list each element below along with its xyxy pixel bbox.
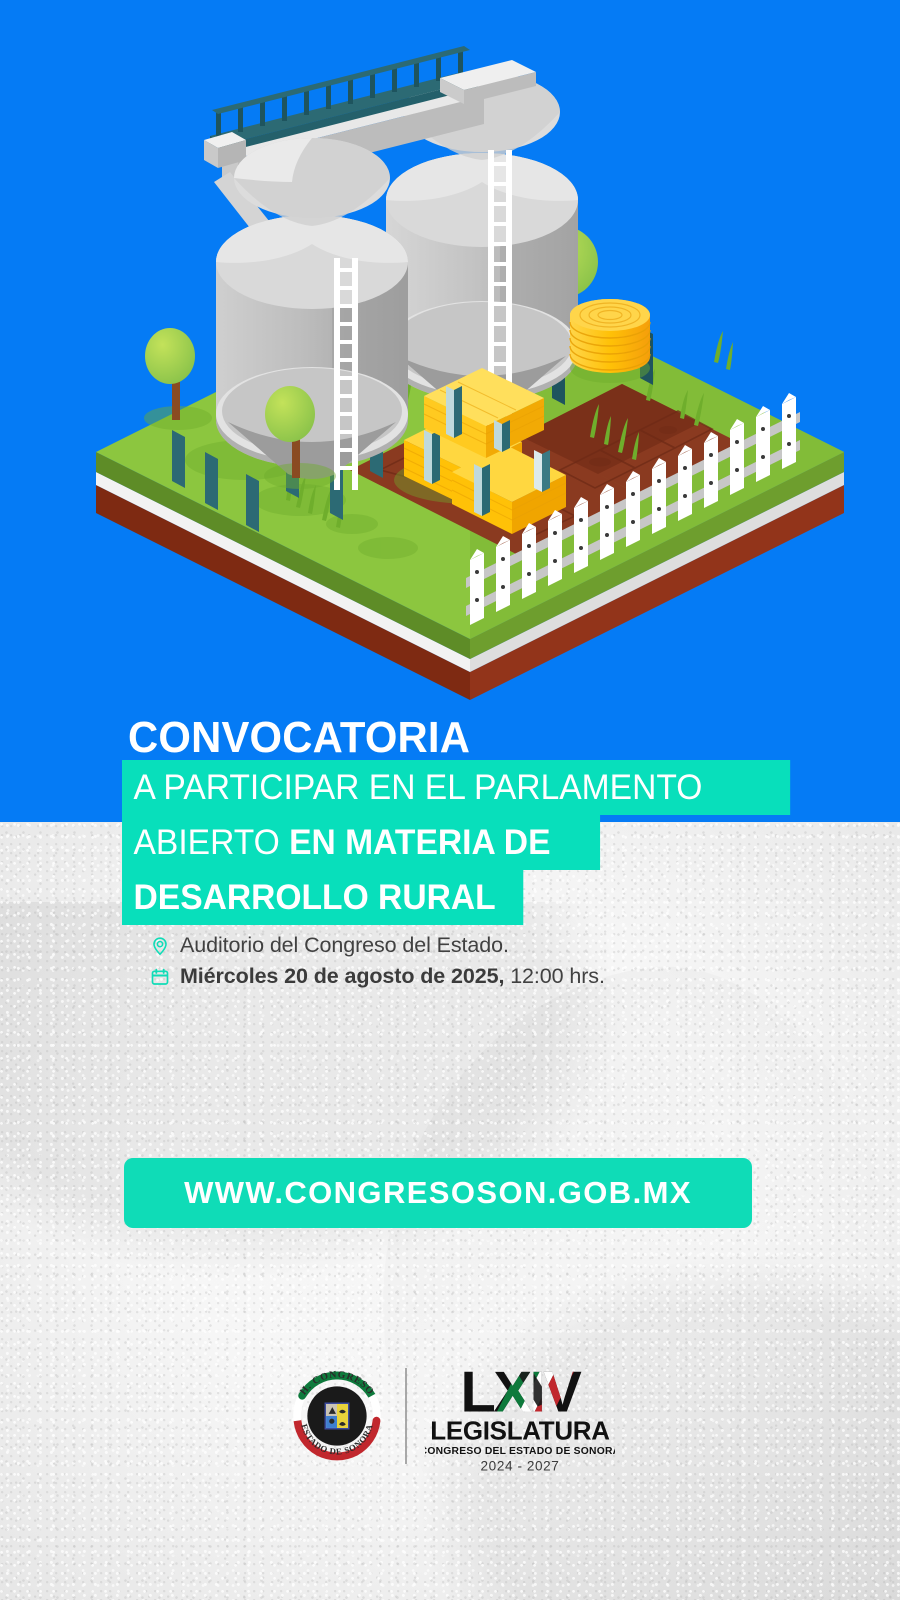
lxiv-years-text: 2024 - 2027 bbox=[481, 1458, 560, 1473]
lxiv-subtitle-text: CONGRESO DEL ESTADO DE SONORA bbox=[425, 1446, 615, 1457]
footer-logos: H. CONGRESO ESTADO DE SONORA LXIV LXIV bbox=[0, 1336, 900, 1496]
isometric-farm-illustration bbox=[0, 0, 900, 700]
detail-date-strong: Miércoles 20 de agosto de 2025, bbox=[180, 964, 504, 988]
footer-divider bbox=[405, 1368, 407, 1464]
detail-row-date: Miércoles 20 de agosto de 2025, 12:00 hr… bbox=[150, 961, 790, 992]
map-pin-icon bbox=[150, 935, 170, 957]
website-url-label: WWW.CONGRESOSON.GOB.MX bbox=[184, 1175, 692, 1211]
grain-coin-stack bbox=[570, 299, 650, 383]
lxiv-legislatura-logo: LXIV LXIV LEGISLATURA CONGRESO DEL ESTAD… bbox=[425, 1357, 615, 1475]
headline-line-2: A PARTICIPAR EN EL PARLAMENTO bbox=[122, 760, 790, 815]
headline-line-1: CONVOCATORIA bbox=[128, 716, 470, 760]
detail-time: 12:00 hrs. bbox=[504, 964, 605, 988]
poster-root: CONVOCATORIA A PARTICIPAR EN EL PARLAMEN… bbox=[0, 0, 900, 1600]
detail-location-text: Auditorio del Congreso del Estado. bbox=[180, 935, 509, 957]
website-url-banner[interactable]: WWW.CONGRESOSON.GOB.MX bbox=[124, 1158, 752, 1228]
headline-line-4: DESARROLLO RURAL bbox=[122, 870, 523, 925]
lxiv-legislatura-text: LEGISLATURA bbox=[430, 1416, 610, 1446]
detail-date-text: Miércoles 20 de agosto de 2025, 12:00 hr… bbox=[180, 966, 605, 988]
calendar-icon bbox=[150, 966, 170, 988]
headline-line-3-normal: ABIERTO bbox=[134, 823, 290, 862]
detail-row-location: Auditorio del Congreso del Estado. bbox=[150, 930, 790, 961]
headline-line-3-strong: EN MATERIA DE bbox=[289, 823, 550, 862]
headline-line-3: ABIERTO EN MATERIA DE bbox=[122, 815, 600, 870]
silo-front bbox=[216, 138, 408, 479]
tree-left-upper bbox=[144, 328, 212, 430]
event-details: Auditorio del Congreso del Estado. Miérc… bbox=[150, 930, 790, 992]
congreso-sonora-seal: H. CONGRESO ESTADO DE SONORA bbox=[285, 1364, 389, 1468]
